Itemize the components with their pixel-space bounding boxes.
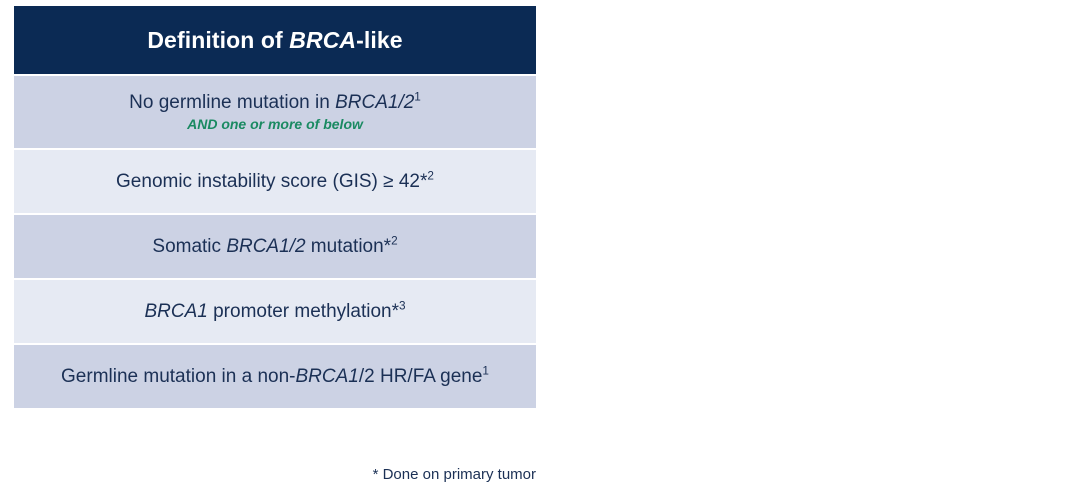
definition-row-1-main: Genomic instability score (GIS) ≥ 42*2 [116, 171, 434, 193]
definition-row-4: Germline mutation in a non-BRCA1/2 HR/FA… [14, 345, 536, 408]
definition-row-3-main: BRCA1 promoter methylation*3 [144, 301, 405, 323]
header-italic: BRCA [289, 27, 356, 53]
footnote-marker: 2 [391, 234, 398, 247]
footnote-marker: 3 [399, 299, 406, 312]
footnote-marker: 1 [482, 364, 489, 377]
header-suffix: -like [356, 27, 403, 53]
definition-row-2-main: Somatic BRCA1/2 mutation*2 [152, 236, 397, 258]
footnote-marker: 1 [414, 90, 421, 103]
km-plot-panel: Progression-free survival percentage 0%2… [540, 0, 1080, 496]
definition-row-1: Genomic instability score (GIS) ≥ 42*2 [14, 150, 536, 213]
footnote-marker: 2 [427, 169, 434, 182]
definition-row-0-main: No germline mutation in BRCA1/21 [129, 92, 421, 114]
definition-row-3: BRCA1 promoter methylation*3 [14, 280, 536, 343]
definition-header-text: Definition of BRCA-like [147, 27, 402, 54]
definition-row-4-main: Germline mutation in a non-BRCA1/2 HR/FA… [61, 366, 489, 388]
definition-row-0-sub: AND one or more of below [187, 116, 363, 132]
definition-row-0: No germline mutation in BRCA1/21 AND one… [14, 76, 536, 148]
definition-row-2: Somatic BRCA1/2 mutation*2 [14, 215, 536, 278]
header-prefix: Definition of [147, 27, 289, 53]
definition-table: Definition of BRCA-like No germline muta… [14, 6, 536, 408]
slide-root: Definition of BRCA-like No germline muta… [0, 0, 1080, 496]
definition-table-header: Definition of BRCA-like [14, 6, 536, 74]
definition-footnote: * Done on primary tumor [14, 466, 536, 483]
